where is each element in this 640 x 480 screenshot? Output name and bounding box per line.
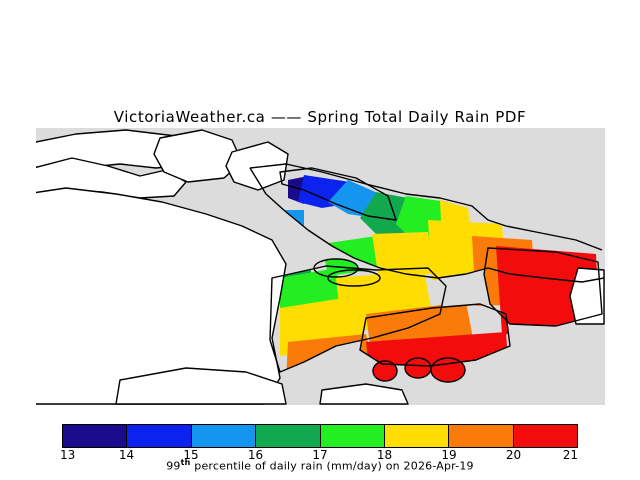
colorbar-segment-13-14[interactable] <box>63 425 127 447</box>
colorbar-caption: 99th percentile of daily rain (mm/day) o… <box>0 458 640 473</box>
colorbar-segment-15-16[interactable] <box>192 425 256 447</box>
colorbar-segment-16-17[interactable] <box>256 425 320 447</box>
map-panel[interactable] <box>36 128 605 405</box>
colorbar-segment-17-18[interactable] <box>321 425 385 447</box>
colorbar-segment-20-21[interactable] <box>514 425 577 447</box>
colorbar-segments[interactable] <box>62 424 578 448</box>
colorbar-segment-19-20[interactable] <box>449 425 513 447</box>
colorbar[interactable] <box>62 424 578 448</box>
map-svg <box>36 128 605 405</box>
caption-rest: percentile of daily rain (mm/day) on 202… <box>191 460 474 473</box>
colorbar-segment-18-19[interactable] <box>385 425 449 447</box>
page-title: VictoriaWeather.ca —— Spring Total Daily… <box>0 108 640 126</box>
caption-superscript: th <box>181 458 191 467</box>
weather-map-page: VictoriaWeather.ca —— Spring Total Daily… <box>0 0 640 480</box>
caption-prefix: 99 <box>166 460 180 473</box>
colorbar-segment-14-15[interactable] <box>127 425 191 447</box>
